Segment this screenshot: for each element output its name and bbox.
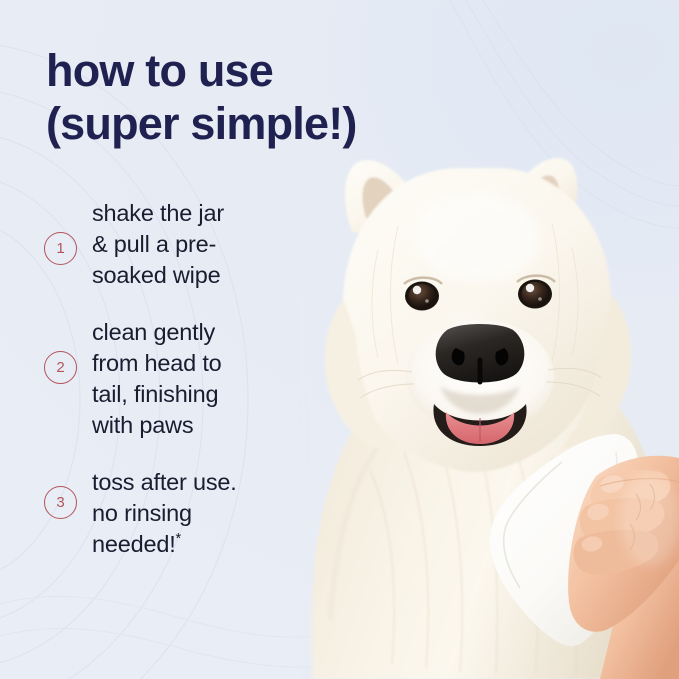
step-2-line-4: with paws <box>92 410 222 441</box>
step-item-3: 3 toss after use. no rinsing needed!* <box>44 465 324 560</box>
step-text-2: clean gently from head to tail, finishin… <box>92 315 222 441</box>
steps-list: 1 shake the jar & pull a pre- soaked wip… <box>44 196 324 584</box>
step-number-badge-3: 3 <box>44 486 77 519</box>
step-3-line-2: no rinsing <box>92 498 237 529</box>
step-text-1: shake the jar & pull a pre- soaked wipe <box>92 196 224 291</box>
step-3-line-1: toss after use. <box>92 467 237 498</box>
step-number-badge-2: 2 <box>44 351 77 384</box>
step-1-line-1: shake the jar <box>92 198 224 229</box>
step-2-line-2: from head to <box>92 348 222 379</box>
step-item-1: 1 shake the jar & pull a pre- soaked wip… <box>44 196 324 291</box>
step-2-line-1: clean gently <box>92 317 222 348</box>
step-1-line-2: & pull a pre- <box>92 229 224 260</box>
step-text-3: toss after use. no rinsing needed!* <box>92 465 237 560</box>
page-title: how to use (super simple!) <box>46 44 516 150</box>
headline-line-1: how to use <box>46 44 516 97</box>
footnote-marker: * <box>176 531 181 547</box>
step-item-2: 2 clean gently from head to tail, finish… <box>44 315 324 441</box>
headline-line-2: (super simple!) <box>46 97 516 150</box>
step-number-badge-1: 1 <box>44 232 77 265</box>
step-1-line-3: soaked wipe <box>92 260 224 291</box>
product-infographic: how to use (super simple!) 1 shake the j… <box>0 0 679 679</box>
step-2-line-3: tail, finishing <box>92 379 222 410</box>
step-3-line-3-text: needed! <box>92 531 176 557</box>
step-3-line-3: needed!* <box>92 529 237 560</box>
